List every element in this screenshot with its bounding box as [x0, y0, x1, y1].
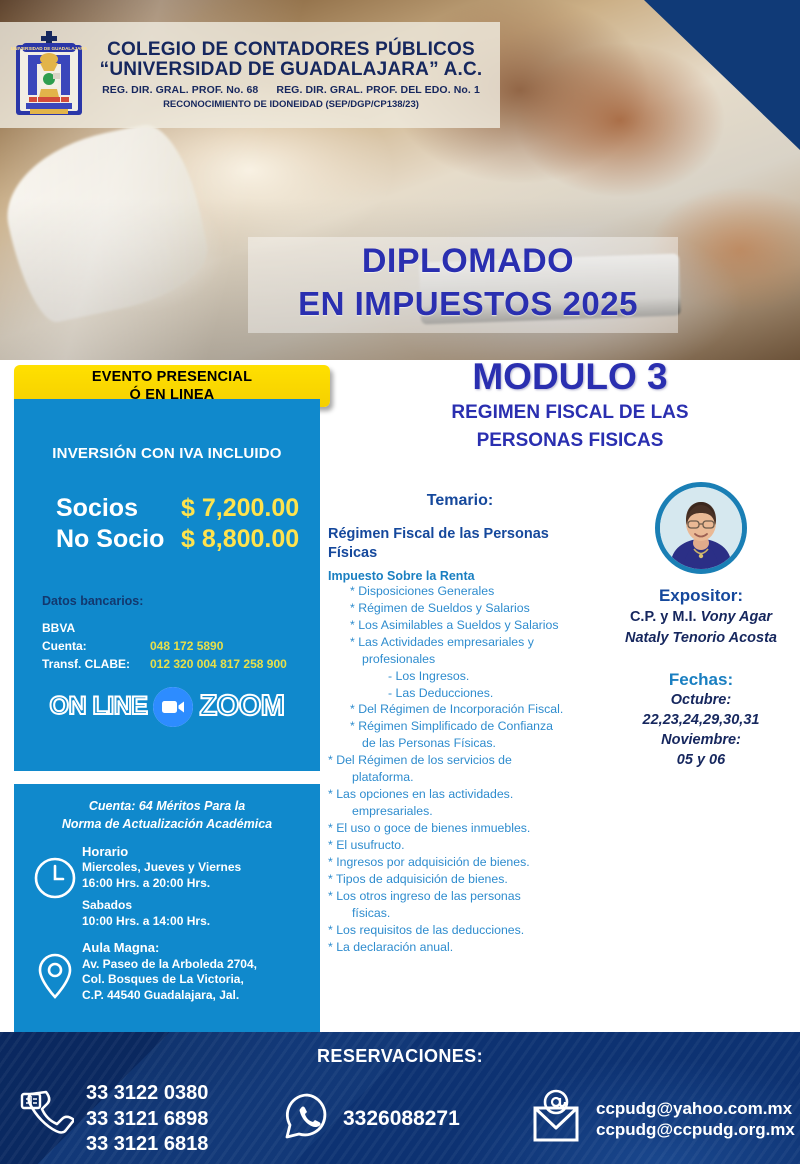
recognition-line: RECONOCIMIENTO DE IDONEIDAD (SEP/DGP/CP1…	[88, 99, 494, 110]
org-name-line1: COLEGIO DE CONTADORES PÚBLICOS	[88, 40, 494, 60]
location-line-2: Col. Bosques de La Victoria,	[82, 972, 257, 988]
schedule-days-2: Sabados	[82, 898, 241, 914]
dates-days-1: 22,23,24,29,30,31	[610, 710, 792, 730]
syllabus-item: * Disposiciones Generales	[328, 583, 596, 600]
bank-account-value: 048 172 5890	[150, 637, 223, 655]
dates-title: Fechas:	[610, 670, 792, 690]
header-band: UNIVERSIDAD DE GUADALAJARA COLEGIO DE CO…	[0, 22, 500, 128]
location-text: Aula Magna: Av. Paseo de la Arboleda 270…	[82, 939, 257, 1004]
location-line-3: C.P. 44540 Guadalajara, Jal.	[82, 988, 257, 1004]
syllabus-list: Régimen Fiscal de las Personas Físicas I…	[328, 525, 596, 956]
dates-body: Octubre: 22,23,24,29,30,31 Noviembre: 05…	[610, 690, 792, 770]
whatsapp-number: 3326088271	[343, 1106, 460, 1133]
clock-icon	[28, 843, 82, 901]
bank-account-row: Cuenta: 048 172 5890	[42, 637, 320, 655]
syllabus-item: - Las Deducciones.	[328, 685, 596, 702]
schedule-heading: Horario	[82, 843, 241, 860]
syllabus-item: * Ingresos por adquisición de bienes.	[328, 854, 596, 871]
syllabus-item: físicas.	[328, 905, 596, 922]
price-label: Socios	[56, 494, 181, 523]
syllabus-item: * Régimen Simplificado de Confianza	[328, 718, 596, 735]
syllabus-item: * La declaración anual.	[328, 939, 596, 956]
price-amount: $ 8,800.00	[181, 525, 299, 554]
merit-note: Cuenta: 64 Méritos Para la Norma de Actu…	[14, 784, 320, 833]
phone-2: 33 3121 6898	[86, 1107, 208, 1133]
header-text-block: COLEGIO DE CONTADORES PÚBLICOS “UNIVERSI…	[88, 40, 500, 110]
merit-line1: Cuenta: 64 Méritos Para la	[28, 798, 306, 816]
whatsapp-icon	[283, 1092, 331, 1147]
dates-month-2: Noviembre:	[610, 730, 792, 750]
syllabus-item: * Del Régimen de los servicios de	[328, 752, 596, 769]
pricing-panel: INVERSIÓN CON IVA INCLUIDO Socios $ 7,20…	[14, 399, 320, 771]
footer-bar: RESERVACIONES: 33 3122 0380 33 3121 6898…	[0, 1032, 800, 1164]
bank-account-label: Cuenta:	[42, 637, 150, 655]
presenter-photo	[655, 482, 747, 574]
bank-details: Datos bancarios: BBVA Cuenta: 048 172 58…	[14, 592, 320, 673]
syllabus-item: * Tipos de adquisición de bienes.	[328, 871, 596, 888]
syllabus-item: empresariales.	[328, 803, 596, 820]
schedule-row: Horario Miercoles, Jueves y Viernes 16:0…	[14, 833, 320, 929]
bank-name: BBVA	[42, 619, 320, 637]
contacts-row: 33 3122 0380 33 3121 6898 33 3121 6818 3…	[0, 1081, 800, 1158]
module-number: MODULO 3	[400, 358, 740, 397]
whatsapp-contact[interactable]: 3326088271	[283, 1092, 528, 1147]
syllabus-item: * Las Actividades empresariales y	[328, 634, 596, 651]
syllabus-section: Impuesto Sobre la Renta	[328, 569, 596, 583]
footer-content: RESERVACIONES: 33 3122 0380 33 3121 6898…	[0, 1032, 800, 1158]
phone-3: 33 3121 6818	[86, 1132, 208, 1158]
telephone-icon	[18, 1088, 74, 1151]
poster-root: UNIVERSIDAD DE GUADALAJARA COLEGIO DE CO…	[0, 0, 800, 1164]
phone-1: 33 3122 0380	[86, 1081, 208, 1107]
email-addresses: ccpudg@yahoo.com.mx ccpudg@ccpudg.org.mx	[596, 1098, 795, 1142]
syllabus-item: * Del Régimen de Incorporación Fiscal.	[328, 701, 596, 718]
presenter-firstname: Vony Agar	[701, 609, 772, 625]
phone-numbers: 33 3122 0380 33 3121 6898 33 3121 6818	[86, 1081, 208, 1158]
org-name-line2: “UNIVERSIDAD DE GUADALAJARA” A.C.	[88, 60, 494, 80]
syllabus-heading-1: Régimen Fiscal de las Personas	[328, 525, 596, 544]
syllabus-item: * Los Asimilables a Sueldos y Salarios	[328, 617, 596, 634]
location-heading: Aula Magna:	[82, 939, 257, 956]
details-panel: Cuenta: 64 Méritos Para la Norma de Actu…	[14, 784, 320, 1032]
email-2: ccpudg@ccpudg.org.mx	[596, 1119, 795, 1141]
zoom-label: ZOOM	[199, 690, 284, 723]
merit-line2: Norma de Actualización Académica	[28, 816, 306, 834]
syllabus-item: * Los requisitos de las deducciones.	[328, 922, 596, 939]
location-line-1: Av. Paseo de la Arboleda 2704,	[82, 957, 257, 973]
bank-clabe-value: 012 320 004 817 258 900	[150, 655, 287, 673]
price-label: No Socio	[56, 525, 181, 554]
title-line1: DIPLOMADO	[248, 240, 688, 283]
reg-right: REG. DIR. GRAL. PROF. DEL EDO. No. 1	[276, 84, 480, 96]
price-row: No Socio $ 8,800.00	[56, 525, 320, 554]
email-at-icon	[528, 1088, 584, 1151]
banner-line1: EVENTO PRESENCIAL	[92, 368, 252, 386]
reg-left: REG. DIR. GRAL. PROF. No. 68	[102, 84, 258, 96]
presenter-block: Expositor: C.P. y M.I. Vony Agar Nataly …	[610, 482, 792, 770]
presenter-name-line1: C.P. y M.I. Vony Agar	[610, 608, 792, 627]
email-contact[interactable]: ccpudg@yahoo.com.mx ccpudg@ccpudg.org.mx	[528, 1088, 795, 1151]
pricing-heading: INVERSIÓN CON IVA INCLUIDO	[14, 445, 320, 462]
module-heading: MODULO 3 REGIMEN FISCAL DE LAS PERSONAS …	[400, 358, 740, 453]
schedule-days-1: Miercoles, Jueves y Viernes	[82, 860, 241, 876]
registration-line: REG. DIR. GRAL. PROF. No. 68 REG. DIR. G…	[88, 84, 494, 96]
presenter-title: Expositor:	[610, 586, 792, 606]
schedule-hours-1: 16:00 Hrs. a 20:00 Hrs.	[82, 876, 241, 892]
syllabus-item: * El usufructo.	[328, 837, 596, 854]
syllabus-item: * Los otros ingreso de las personas	[328, 888, 596, 905]
dates-days-2: 05 y 06	[610, 750, 792, 770]
module-subtitle-2: PERSONAS FISICAS	[400, 428, 740, 453]
dates-month-1: Octubre:	[610, 690, 792, 710]
map-pin-icon	[28, 939, 82, 1001]
bank-details-title: Datos bancarios:	[42, 592, 320, 611]
module-subtitle-1: REGIMEN FISCAL DE LAS	[400, 400, 740, 425]
syllabus-item: plataforma.	[328, 769, 596, 786]
paper-strip-decoration	[0, 117, 216, 328]
bank-clabe-label: Transf. CLABE:	[42, 655, 150, 673]
presenter-lastname: Nataly Tenorio Acosta	[625, 630, 777, 646]
syllabus-title: Temario:	[330, 492, 590, 510]
syllabus-item: * Régimen de Sueldos y Salarios	[328, 600, 596, 617]
pricing-list: Socios $ 7,200.00 No Socio $ 8,800.00	[14, 494, 320, 554]
email-1: ccpudg@yahoo.com.mx	[596, 1098, 795, 1120]
title-line2: EN IMPUESTOS 2025	[248, 283, 688, 325]
presenter-credentials: C.P. y M.I.	[630, 609, 701, 625]
syllabus-item: * Las opciones en las actividades.	[328, 786, 596, 803]
page-title: DIPLOMADO EN IMPUESTOS 2025	[248, 240, 688, 324]
price-row: Socios $ 7,200.00	[56, 494, 320, 523]
location-row: Aula Magna: Av. Paseo de la Arboleda 270…	[14, 929, 320, 1004]
online-zoom-logo: ON LINE ZOOM	[14, 687, 320, 727]
syllabus-item: profesionales	[328, 651, 596, 668]
svg-text:UNIVERSIDAD DE GUADALAJARA: UNIVERSIDAD DE GUADALAJARA	[11, 46, 88, 51]
video-camera-icon	[153, 687, 193, 727]
online-label: ON LINE	[50, 692, 148, 721]
schedule-hours-2: 10:00 Hrs. a 14:00 Hrs.	[82, 914, 241, 930]
presenter-name-line2: Nataly Tenorio Acosta	[610, 629, 792, 648]
price-amount: $ 7,200.00	[181, 494, 299, 523]
bank-clabe-row: Transf. CLABE: 012 320 004 817 258 900	[42, 655, 320, 673]
schedule-text: Horario Miercoles, Jueves y Viernes 16:0…	[82, 843, 241, 929]
syllabus-item: * El uso o goce de bienes inmuebles.	[328, 820, 596, 837]
syllabus-item: - Los Ingresos.	[328, 668, 596, 685]
syllabus-items: * Disposiciones Generales* Régimen de Su…	[328, 583, 596, 956]
udg-crest-icon: UNIVERSIDAD DE GUADALAJARA	[10, 29, 88, 121]
syllabus-item: de las Personas Físicas.	[328, 735, 596, 752]
syllabus-heading-2: Físicas	[328, 544, 596, 563]
phone-contact[interactable]: 33 3122 0380 33 3121 6898 33 3121 6818	[18, 1081, 283, 1158]
reservations-heading: RESERVACIONES:	[0, 1032, 800, 1067]
